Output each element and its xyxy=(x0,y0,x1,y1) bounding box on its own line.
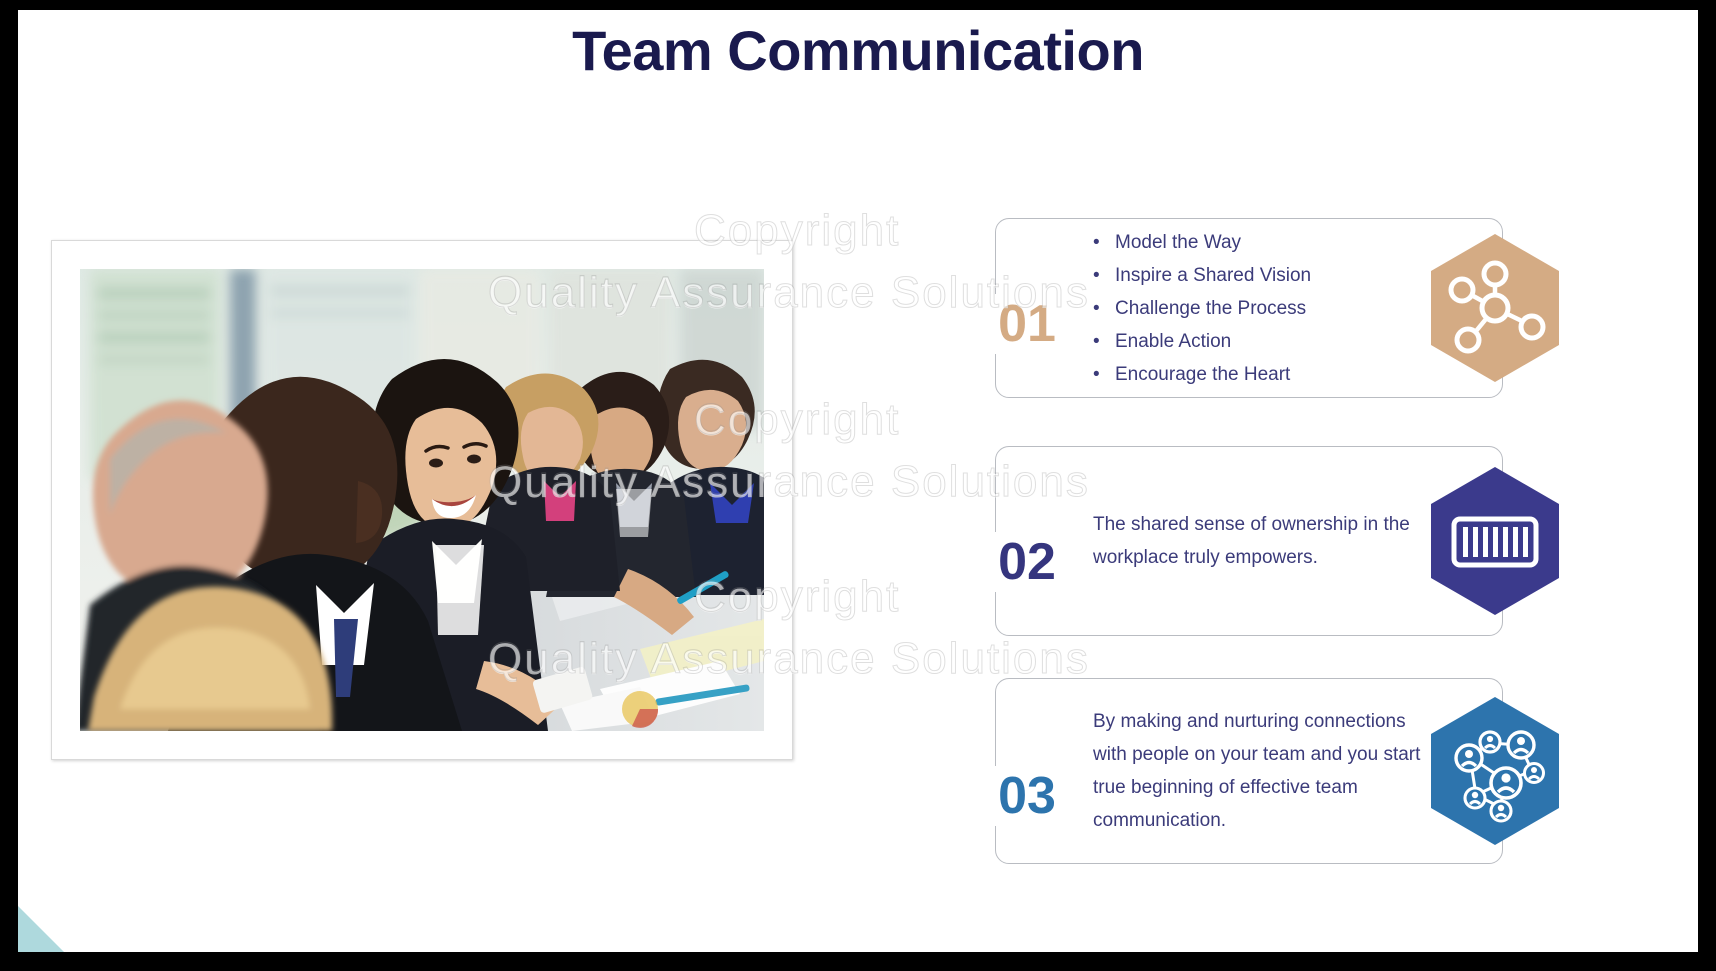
page-title: Team Communication xyxy=(18,18,1698,83)
corner-accent-triangle xyxy=(18,906,64,952)
network-nodes-icon xyxy=(1428,232,1562,384)
people-network-icon xyxy=(1428,695,1562,847)
card-item[interactable]: 02 The shared sense of ownership in the … xyxy=(973,446,1673,636)
card-body: By making and nurturing connections with… xyxy=(1093,678,1423,864)
hexagon-badge-3 xyxy=(1428,695,1562,847)
list-item: Enable Action xyxy=(1115,325,1423,358)
card-paragraph: By making and nurturing connections with… xyxy=(1093,705,1423,837)
photo-frame xyxy=(51,240,793,760)
slide-canvas: Team Communication xyxy=(18,10,1698,952)
card-body: Model the Way Inspire a Shared Vision Ch… xyxy=(1093,218,1423,398)
battery-icon xyxy=(1428,465,1562,617)
card-item[interactable]: 01 Model the Way Inspire a Shared Vision… xyxy=(973,218,1673,398)
card-number: 03 xyxy=(973,766,1081,826)
hexagon-badge-2 xyxy=(1428,465,1562,617)
content-cards: 01 Model the Way Inspire a Shared Vision… xyxy=(973,208,1673,868)
list-item: Encourage the Heart xyxy=(1115,358,1423,391)
card-paragraph: The shared sense of ownership in the wor… xyxy=(1093,508,1423,574)
list-item: Inspire a Shared Vision xyxy=(1115,259,1423,292)
card-item[interactable]: 03 By making and nurturing connections w… xyxy=(973,678,1673,864)
card-number: 02 xyxy=(973,532,1081,592)
hexagon-badge-1 xyxy=(1428,232,1562,384)
card-number: 01 xyxy=(973,294,1081,354)
card-body: The shared sense of ownership in the wor… xyxy=(1093,446,1423,636)
meeting-photo-graphic xyxy=(80,269,764,731)
bullet-list: Model the Way Inspire a Shared Vision Ch… xyxy=(1093,226,1423,391)
list-item: Model the Way xyxy=(1115,226,1423,259)
list-item: Challenge the Process xyxy=(1115,292,1423,325)
meeting-photo xyxy=(80,269,764,731)
